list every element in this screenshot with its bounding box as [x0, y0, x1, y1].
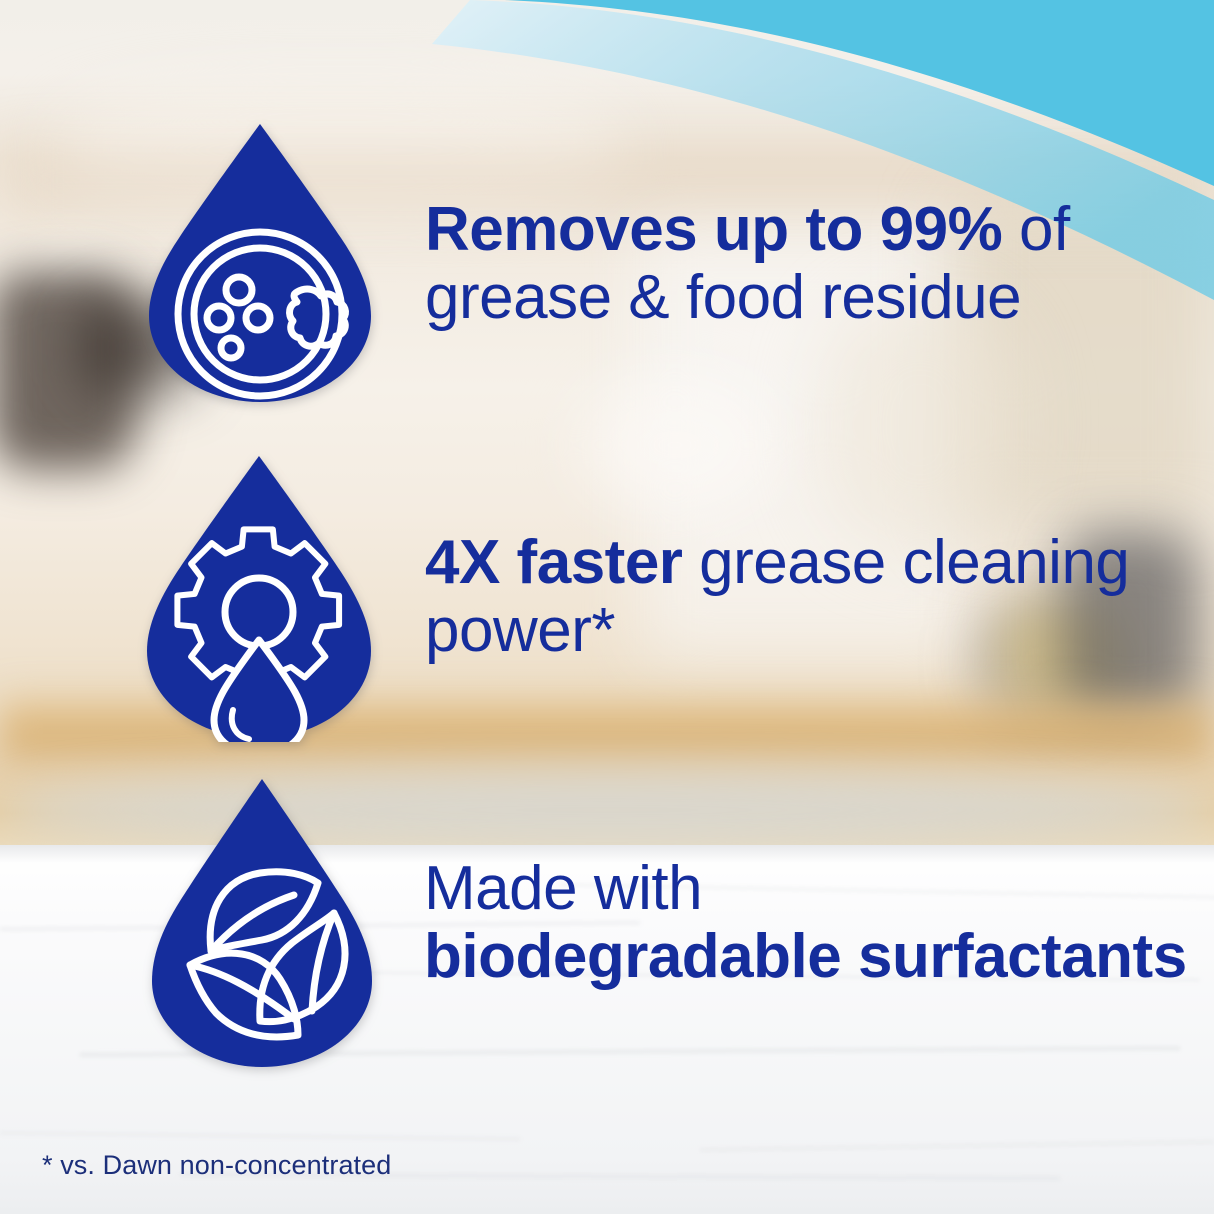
feature-1-text: Removes up to 99% of grease & food resid… — [425, 196, 1214, 332]
three-leaves-recycle-icon — [148, 775, 376, 1071]
feature-row-3: Made with biodegradable surfactants — [148, 775, 1187, 1071]
plate-with-food-residue-icon — [145, 120, 375, 406]
feature-row-1: Removes up to 99% of grease & food resid… — [145, 120, 1214, 406]
feature-3-icon-container — [148, 775, 376, 1071]
feature-2-bold-lead: 4X faster — [425, 528, 682, 597]
feature-3-lead: Made with — [424, 854, 702, 923]
feature-2-text: 4X faster grease cleaning power* — [425, 529, 1214, 665]
gear-with-droplet-icon — [143, 452, 375, 742]
feature-2-icon-container — [143, 452, 375, 742]
feature-3-bold-rest: biodegradable surfactants — [424, 922, 1187, 991]
feature-row-2: 4X faster grease cleaning power* — [143, 452, 1214, 742]
feature-1-icon-container — [145, 120, 375, 406]
feature-1-bold-lead: Removes up to 99% — [425, 195, 1002, 264]
promo-canvas: Removes up to 99% of grease & food resid… — [0, 0, 1214, 1214]
droplet-shape — [149, 124, 371, 402]
footnote-disclaimer: * vs. Dawn non-concentrated — [42, 1150, 391, 1181]
feature-list: Removes up to 99% of grease & food resid… — [0, 0, 1214, 1214]
feature-3-text: Made with biodegradable surfactants — [424, 855, 1187, 991]
